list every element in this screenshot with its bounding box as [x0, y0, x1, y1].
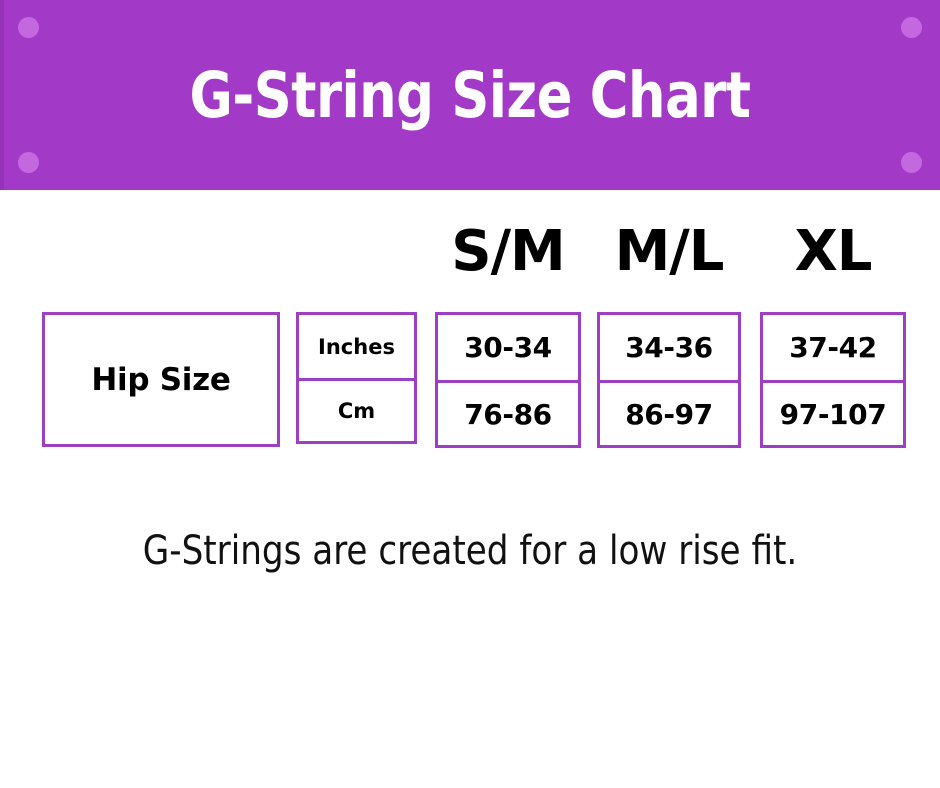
data-cell-xl-cm: 97-107 — [763, 380, 903, 445]
data-column-sm: 30-34 76-86 — [435, 312, 581, 448]
data-cell-sm-cm: 76-86 — [438, 380, 578, 445]
data-cell-xl-inches: 37-42 — [763, 315, 903, 380]
size-chart-table: Hip Size Inches Cm 30-34 76-86 34-36 86-… — [0, 0, 940, 788]
data-column-ml: 34-36 86-97 — [597, 312, 741, 448]
unit-cell-inches: Inches — [299, 315, 414, 378]
unit-column: Inches Cm — [296, 312, 417, 444]
data-column-xl: 37-42 97-107 — [760, 312, 906, 448]
unit-cell-cm: Cm — [299, 378, 414, 441]
fit-note: G-Strings are created for a low rise fit… — [24, 518, 917, 584]
row-header-hip-size: Hip Size — [42, 312, 280, 447]
data-cell-ml-inches: 34-36 — [600, 315, 738, 380]
row-header-label: Hip Size — [91, 362, 230, 398]
data-cell-sm-inches: 30-34 — [438, 315, 578, 380]
data-cell-ml-cm: 86-97 — [600, 380, 738, 445]
